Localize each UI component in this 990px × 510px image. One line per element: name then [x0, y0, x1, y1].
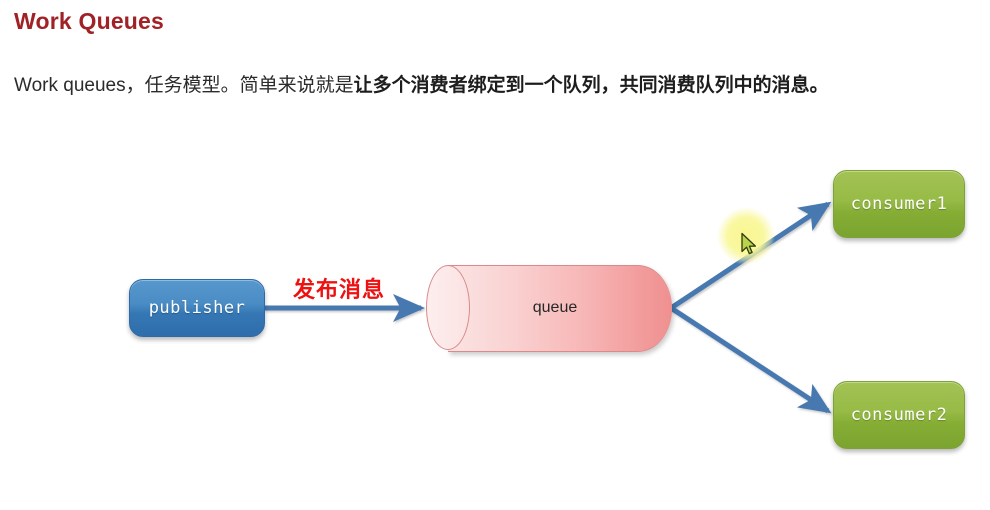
arrow-queue-to-consumer1 — [671, 204, 828, 308]
arrow-queue-to-consumer2 — [671, 308, 828, 411]
queue-node[interactable]: queue — [426, 265, 672, 350]
consumer1-node[interactable]: consumer1 — [833, 170, 965, 238]
publisher-node[interactable]: publisher — [129, 279, 265, 337]
consumer2-node[interactable]: consumer2 — [833, 381, 965, 449]
consumer1-node-label: consumer1 — [851, 194, 948, 214]
queue-node-label: queue — [426, 265, 672, 350]
consumer2-node-label: consumer2 — [851, 405, 948, 425]
edge-label-publish-message: 发布消息 — [293, 272, 385, 304]
work-queues-diagram: publisher 发布消息 queue consumer1 consumer2 — [0, 0, 990, 510]
publisher-node-label: publisher — [149, 298, 246, 318]
